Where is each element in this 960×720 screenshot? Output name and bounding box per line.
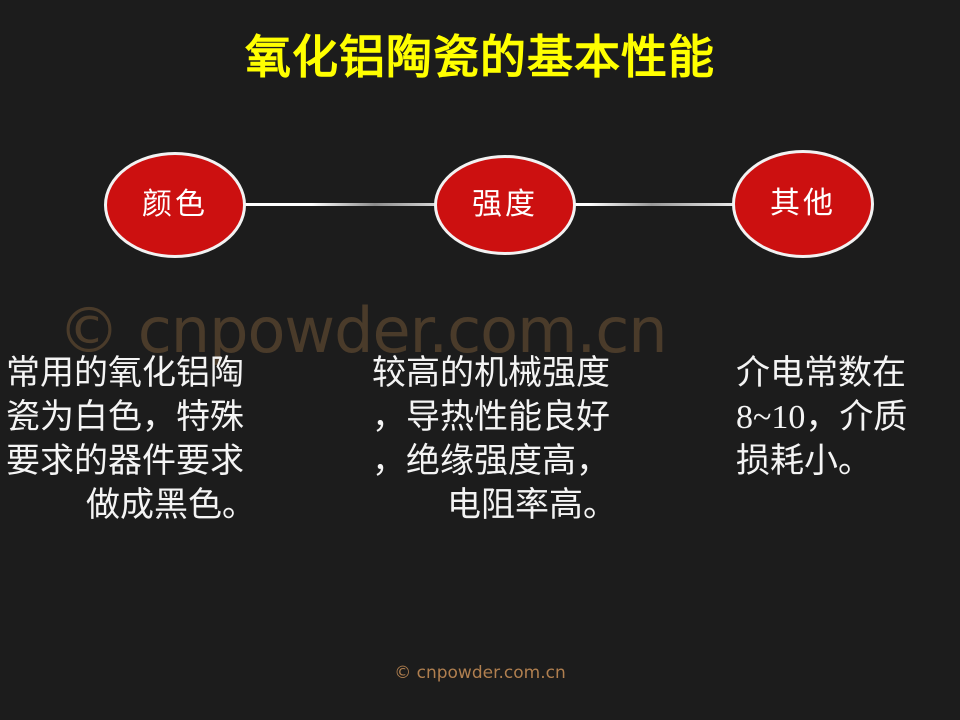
diagram-node-strength-label: 强度 xyxy=(472,189,538,221)
description-line: 瓷为白色，特殊 xyxy=(6,396,336,440)
description-line: 常用的氧化铝陶 xyxy=(6,352,336,396)
description-line: ，绝缘强度高， xyxy=(372,440,692,484)
description-line: 介电常数在 xyxy=(736,352,960,396)
description-line: 电阻率高。 xyxy=(372,484,692,528)
description-line: ，导热性能良好 xyxy=(372,396,692,440)
description-line: 8~10，介质 xyxy=(736,396,960,440)
diagram-node-strength[interactable]: 强度 xyxy=(434,155,576,255)
description-line: 较高的机械强度 xyxy=(372,352,692,396)
description-column-color: 常用的氧化铝陶 瓷为白色，特殊 要求的器件要求 做成黑色。 xyxy=(6,352,336,528)
description-column-other: 介电常数在 8~10，介质 损耗小。 xyxy=(736,352,960,484)
footer-credit: © cnpowder.com.cn xyxy=(0,662,960,684)
page-title: 氧化铝陶瓷的基本性能 xyxy=(0,30,960,86)
description-line: 损耗小。 xyxy=(736,440,960,484)
diagram-node-other[interactable]: 其他 xyxy=(732,150,874,258)
diagram-node-color[interactable]: 颜色 xyxy=(104,152,246,258)
slide-canvas: 氧化铝陶瓷的基本性能 © cnpowder.com.cn 颜色 强度 其他 常用… xyxy=(0,0,960,720)
diagram-node-other-label: 其他 xyxy=(770,188,836,220)
description-line: 做成黑色。 xyxy=(6,484,336,528)
description-line: 要求的器件要求 xyxy=(6,440,336,484)
description-column-strength: 较高的机械强度 ，导热性能良好 ，绝缘强度高， 电阻率高。 xyxy=(372,352,692,528)
diagram-node-color-label: 颜色 xyxy=(142,189,208,221)
